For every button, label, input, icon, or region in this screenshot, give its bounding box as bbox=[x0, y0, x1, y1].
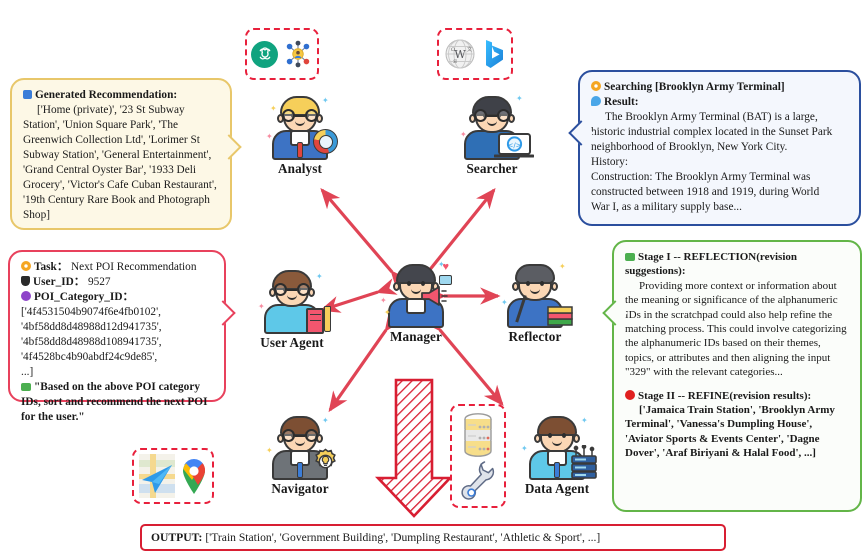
poi-id-line: '4bf58dd8d48988d12d941735', bbox=[21, 320, 214, 335]
chat-icon bbox=[625, 253, 635, 261]
bing-logo-icon bbox=[481, 38, 507, 70]
searching-heading: Searching [Brooklyn Army Terminal] bbox=[591, 80, 849, 95]
user-agent-avatar: ✦ ✦ ✦ bbox=[256, 262, 328, 334]
openai-logo-icon bbox=[251, 41, 278, 68]
gear-lightbulb-icon bbox=[312, 448, 339, 475]
eye-right bbox=[540, 281, 544, 286]
agent-label: Data Agent bbox=[505, 481, 609, 497]
necktie-icon bbox=[297, 462, 303, 478]
task-row: Task： Next POI Recommendation bbox=[21, 260, 214, 275]
agent-label: User Agent bbox=[240, 335, 344, 351]
result-line: The Brooklyn Army Terminal (BAT) is a la… bbox=[591, 110, 849, 125]
glasses-icon bbox=[274, 283, 310, 296]
navigator-avatar: ✦ ✦ bbox=[264, 408, 336, 480]
wikipedia-logo-icon: W Ω 文 Я bbox=[444, 38, 476, 70]
notebook-lines-icon bbox=[310, 314, 321, 321]
blue-drop-icon bbox=[591, 96, 601, 106]
agent-user-agent[interactable]: ✦ ✦ ✦ User Agent bbox=[240, 262, 344, 351]
result-line: Construction: The Brooklyn Army Terminal… bbox=[591, 170, 849, 185]
glasses-icon bbox=[282, 109, 318, 122]
wrench-icon bbox=[460, 459, 496, 501]
hair bbox=[515, 264, 555, 284]
panel-heading: Generated Recommendation: bbox=[23, 88, 220, 103]
output-down-arrow bbox=[378, 380, 450, 516]
agent-network-icon bbox=[283, 39, 313, 69]
output-label: OUTPUT: bbox=[151, 531, 202, 544]
result-heading: Result: bbox=[591, 95, 849, 110]
agent-manager[interactable]: ✦ ✦ ✦ ♥ Manager bbox=[364, 256, 468, 345]
svg-text:Ω: Ω bbox=[451, 47, 455, 53]
hair bbox=[396, 264, 436, 284]
result-line: History: bbox=[591, 155, 849, 170]
data-tools-box[interactable] bbox=[450, 404, 506, 508]
eye-left bbox=[407, 281, 411, 286]
speech-bubble-icon bbox=[439, 275, 452, 285]
poi-id-line: '4f4528bc4b90abdf24c9de85', bbox=[21, 350, 214, 365]
searcher-avatar: ✦ ✦ </> bbox=[456, 88, 528, 160]
analyst-avatar: ✦ ✦ ✦ bbox=[264, 88, 336, 160]
user-id-value: 9527 bbox=[88, 276, 111, 288]
necktie-icon bbox=[554, 462, 560, 478]
map-paper-plane-icon bbox=[139, 454, 175, 498]
output-bar: OUTPUT: ['Train Station', 'Government Bu… bbox=[140, 524, 726, 551]
purple-dot-icon bbox=[21, 291, 31, 301]
google-maps-pin-icon bbox=[180, 457, 208, 495]
eye-right bbox=[562, 433, 566, 438]
agent-analyst[interactable]: ✦ ✦ ✦ Analyst bbox=[248, 88, 352, 177]
stage2-body: ['Jamaica Train Station', 'Brooklyn Army… bbox=[625, 403, 850, 461]
chat-icon bbox=[21, 383, 31, 391]
svg-text:</>: </> bbox=[507, 141, 521, 149]
poi-id-line: '4bf58dd8d48988d108941735', bbox=[21, 335, 214, 350]
laptop-icon: </> bbox=[494, 133, 534, 159]
server-rack-icon bbox=[571, 445, 597, 479]
result-line: constructed between 1918 and 1919, durin… bbox=[591, 185, 849, 200]
megaphone-icon bbox=[420, 286, 448, 306]
agent-label: Manager bbox=[364, 329, 468, 345]
user-id-row: User_ID： 9527 bbox=[21, 275, 214, 290]
stage1-body: Providing more context or information ab… bbox=[625, 279, 850, 380]
database-icon bbox=[458, 411, 498, 457]
reflector-avatar: ✦ ✦ bbox=[499, 256, 571, 328]
red-dot-icon bbox=[625, 390, 635, 400]
target-icon bbox=[591, 81, 601, 91]
eye-left bbox=[548, 433, 552, 438]
result-line: War I, as a military supply base... bbox=[591, 200, 849, 215]
agent-data-agent[interactable]: ✦ ✦ bbox=[505, 408, 609, 497]
pie-chart-icon bbox=[313, 129, 338, 154]
agent-label: Searcher bbox=[440, 161, 544, 177]
navigator-tools-box[interactable] bbox=[132, 448, 214, 504]
agent-navigator[interactable]: ✦ ✦ Navigator bbox=[248, 408, 352, 497]
data-agent-avatar: ✦ ✦ bbox=[521, 408, 593, 480]
task-value: Next POI Recommendation bbox=[71, 261, 197, 273]
heart-icon: ♥ bbox=[442, 262, 449, 273]
books-stack-icon bbox=[547, 306, 573, 326]
target-icon bbox=[21, 261, 31, 271]
trophy-icon bbox=[21, 276, 30, 286]
poi-id-line: ...] bbox=[21, 365, 214, 380]
task-panel: Task： Next POI Recommendation User_ID： 9… bbox=[8, 250, 226, 402]
svg-text:Я: Я bbox=[453, 59, 457, 65]
notebook-icon bbox=[306, 308, 324, 334]
blue-square-icon bbox=[23, 90, 32, 99]
svg-text:文: 文 bbox=[467, 46, 472, 53]
prompt-row: "Based on the above POI category IDs, so… bbox=[21, 380, 214, 425]
searching-panel: Searching [Brooklyn Army Terminal] Resul… bbox=[578, 70, 861, 226]
result-line: neighborhood of Brooklyn, New York City. bbox=[591, 140, 849, 155]
figure-canvas: W Ω 文 Я bbox=[0, 0, 865, 560]
glasses-icon bbox=[474, 109, 510, 122]
searcher-tools-box[interactable]: W Ω 文 Я bbox=[437, 28, 513, 80]
agent-label: Reflector bbox=[483, 329, 587, 345]
poi-id-line: ['4f4531504b9074f6e4fb0102', bbox=[21, 305, 214, 320]
generated-recommendation-panel: Generated Recommendation: ['Home (privat… bbox=[10, 78, 232, 230]
panel-body: ['Home (private)', '23 St Subway Station… bbox=[23, 103, 220, 223]
ear-right bbox=[551, 282, 558, 291]
agent-label: Navigator bbox=[248, 481, 352, 497]
agent-reflector[interactable]: ✦ ✦ Reflector bbox=[483, 256, 587, 345]
pencil-icon bbox=[324, 306, 331, 332]
poi-label-row: POI_Category_ID： bbox=[21, 290, 214, 305]
reflection-panel: Stage I -- REFLECTION(revision suggestio… bbox=[612, 240, 862, 512]
output-value: ['Train Station', 'Government Building',… bbox=[205, 531, 600, 544]
analyst-tools-box[interactable] bbox=[245, 28, 319, 80]
stage2-heading: Stage II -- REFINE(revision results): bbox=[625, 389, 850, 403]
agent-searcher[interactable]: ✦ ✦ </> Searcher bbox=[440, 88, 544, 177]
result-line: historic industrial complex located in t… bbox=[591, 125, 849, 140]
manager-avatar: ✦ ✦ ✦ ♥ bbox=[380, 256, 452, 328]
glasses-icon bbox=[282, 429, 318, 442]
eye-left bbox=[526, 281, 530, 286]
necktie-icon bbox=[297, 142, 303, 158]
hair bbox=[537, 416, 577, 436]
stage1-heading: Stage I -- REFLECTION(revision suggestio… bbox=[625, 250, 850, 279]
agent-label: Analyst bbox=[248, 161, 352, 177]
